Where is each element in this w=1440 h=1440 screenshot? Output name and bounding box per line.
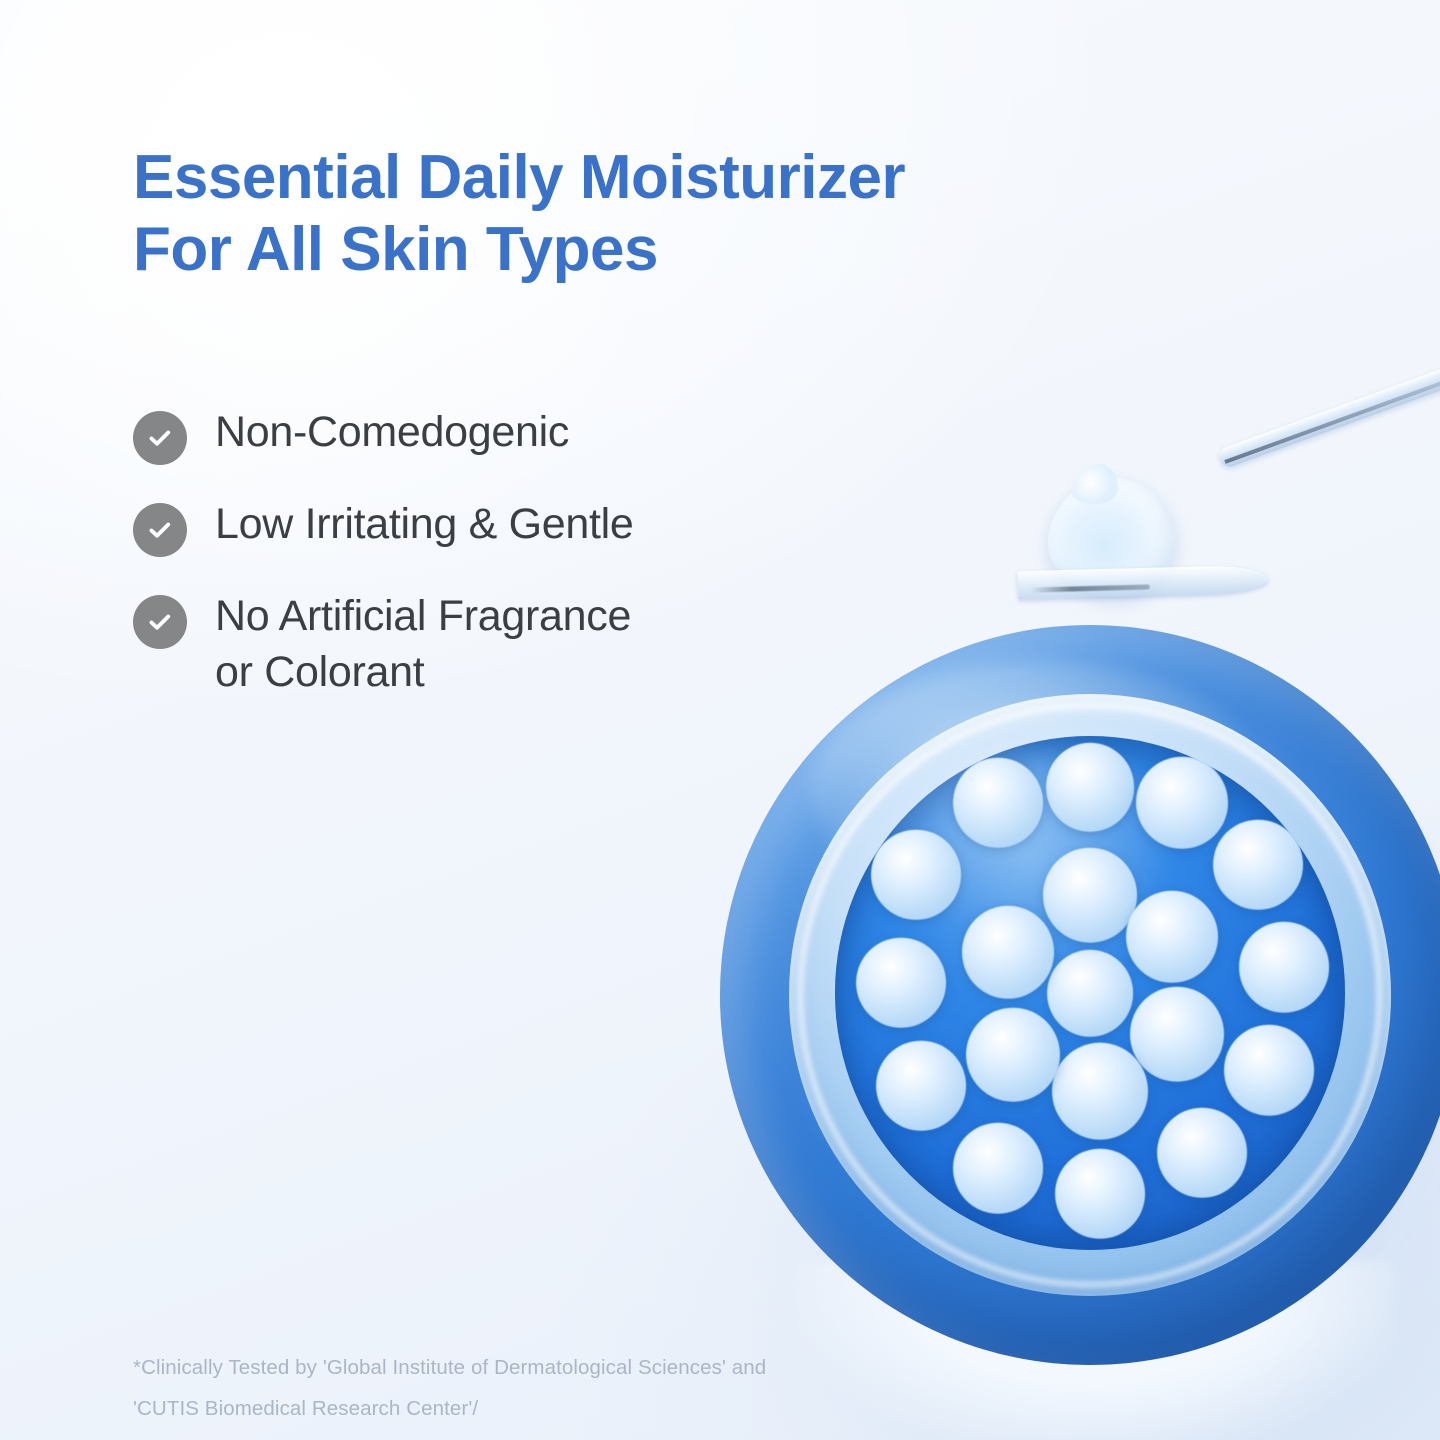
gel-dimple (953, 758, 1043, 849)
feature-item: No Artificial Fragrance or Colorant (133, 589, 853, 701)
feature-label: No Artificial Fragrance or Colorant (215, 589, 631, 701)
product-marketing-banner: Essential Daily Moisturizer For All Skin… (0, 0, 1440, 1440)
gel-dimple (1052, 1043, 1148, 1140)
gel-dimple (1047, 950, 1133, 1036)
feature-item: Non-Comedogenic (133, 405, 853, 465)
gel-surface (835, 736, 1346, 1250)
footnote-disclaimer: *Clinically Tested by 'Global Institute … (133, 1347, 893, 1440)
gel-drop-peak (1072, 464, 1118, 504)
gel-dimple (1239, 922, 1329, 1013)
gel-dimple (1046, 743, 1134, 831)
gel-dimple (953, 1123, 1043, 1214)
check-circle-icon (133, 411, 187, 465)
page-title: Essential Daily Moisturizer For All Skin… (133, 142, 905, 286)
gel-dimple (1043, 848, 1137, 943)
gel-dimple (962, 906, 1054, 999)
gel-dimple (856, 938, 946, 1029)
spatula-handle-edge (1224, 358, 1440, 464)
gel-dimple (1136, 757, 1228, 850)
gel-dimple (1055, 1148, 1145, 1239)
spatula-tip-edge (1030, 584, 1150, 592)
feature-label: Non-Comedogenic (215, 405, 569, 461)
gel-dimple (877, 1040, 967, 1131)
gel-dimple (1157, 1107, 1247, 1198)
gel-dimple (1126, 890, 1218, 983)
spatula-blade (1018, 565, 1269, 600)
gel-dimple (1130, 987, 1224, 1082)
gel-dimple (1214, 819, 1304, 910)
check-circle-icon (133, 503, 187, 557)
gel-dimple (966, 1008, 1060, 1103)
spatula-handle (1217, 348, 1440, 469)
gel-dimple (871, 830, 961, 921)
footnote-line-2: 'CUTIS Biomedical Research Center'/ (133, 1388, 893, 1429)
feature-label: Low Irritating & Gentle (215, 497, 634, 553)
gel-dimple (1224, 1025, 1314, 1116)
moisturizer-jar (720, 625, 1440, 1365)
feature-list: Non-ComedogenicLow Irritating & GentleNo… (133, 405, 853, 733)
gel-drop (1048, 478, 1176, 596)
feature-item: Low Irritating & Gentle (133, 497, 853, 557)
footnote-line-1: *Clinically Tested by 'Global Institute … (133, 1347, 893, 1388)
check-circle-icon (133, 595, 187, 649)
footnote-line-3: Results may vary depending on individual… (133, 1429, 893, 1440)
